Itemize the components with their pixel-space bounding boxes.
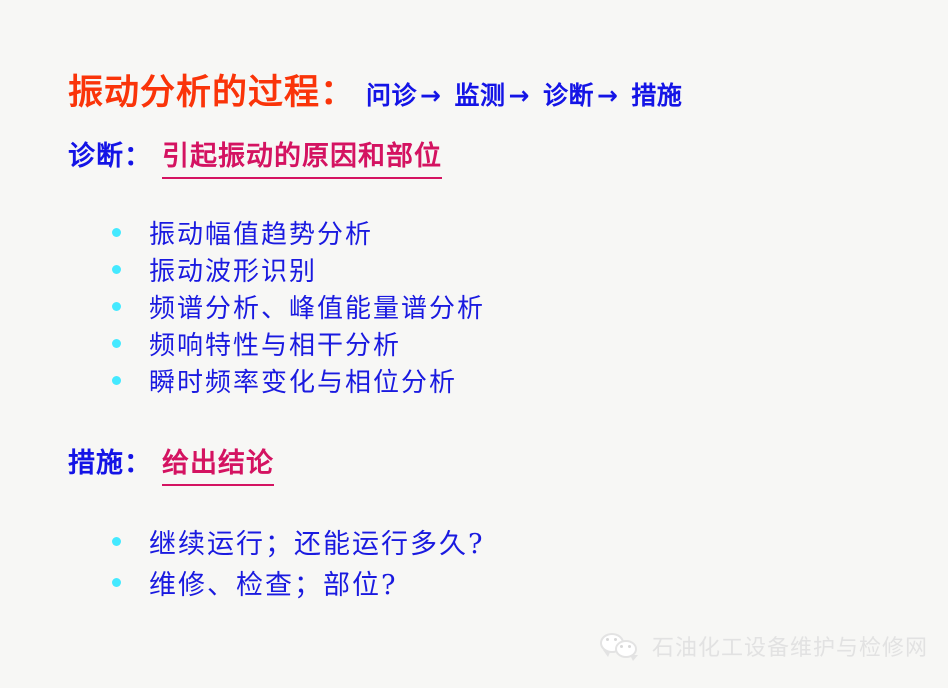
bullet-dot-icon bbox=[112, 537, 121, 546]
list-item-label: 振动幅值趋势分析 bbox=[149, 214, 373, 251]
arrow-right-icon-2: → bbox=[509, 81, 530, 110]
process-step-1: 问诊 bbox=[366, 81, 417, 110]
section-heading-diagnosis: 诊断： 引起振动的原因和部位 bbox=[68, 134, 442, 179]
wechat-icon bbox=[600, 631, 642, 661]
section-label-measures: 措施： bbox=[68, 441, 152, 480]
bullet-list-measures: 继续运行；还能运行多久? 维修、检查；部位? bbox=[112, 521, 484, 603]
section-value-diagnosis: 引起振动的原因和部位 bbox=[162, 134, 442, 179]
process-step-4: 措施 bbox=[631, 81, 682, 110]
bullet-dot-icon bbox=[112, 228, 121, 237]
list-item: 振动幅值趋势分析 bbox=[112, 214, 485, 251]
process-step-3: 诊断 bbox=[543, 81, 594, 110]
section-label-diagnosis: 诊断： bbox=[68, 134, 152, 173]
arrow-right-icon-3: → bbox=[597, 81, 618, 110]
list-item-label: 频谱分析、峰值能量谱分析 bbox=[149, 288, 485, 325]
list-item: 继续运行；还能运行多久? bbox=[112, 521, 484, 562]
list-item-label: 振动波形识别 bbox=[149, 251, 317, 288]
watermark-label: 石油化工设备维护与检修网 bbox=[652, 630, 928, 662]
list-item: 瞬时频率变化与相位分析 bbox=[112, 362, 485, 399]
page-title: 振动分析的过程： 问诊→监测→诊断→措施 bbox=[68, 64, 685, 115]
arrow-right-icon-1: → bbox=[420, 81, 441, 110]
wechat-icon-eye-front-2 bbox=[628, 645, 631, 648]
wechat-icon-bubble-front bbox=[615, 640, 637, 658]
list-item: 频谱分析、峰值能量谱分析 bbox=[112, 288, 485, 325]
section-heading-measures: 措施： 给出结论 bbox=[68, 441, 274, 486]
process-step-2: 监测 bbox=[454, 81, 505, 110]
list-item-label: 瞬时频率变化与相位分析 bbox=[149, 362, 457, 399]
bullet-dot-icon bbox=[112, 302, 121, 311]
wechat-icon-eye-back-1 bbox=[606, 638, 609, 641]
slide-canvas: 振动分析的过程： 问诊→监测→诊断→措施 诊断： 引起振动的原因和部位 振动幅值… bbox=[0, 0, 948, 688]
list-item-label: 频响特性与相干分析 bbox=[149, 325, 401, 362]
list-item: 维修、检查；部位? bbox=[112, 562, 484, 603]
section-value-measures: 给出结论 bbox=[162, 441, 274, 486]
bullet-list-diagnosis: 振动幅值趋势分析 振动波形识别 频谱分析、峰值能量谱分析 频响特性与相干分析 瞬… bbox=[112, 214, 485, 399]
page-title-main: 振动分析的过程： bbox=[68, 64, 356, 115]
list-item: 振动波形识别 bbox=[112, 251, 485, 288]
list-item: 频响特性与相干分析 bbox=[112, 325, 485, 362]
list-item-label: 维修、检查；部位? bbox=[149, 563, 397, 602]
watermark: 石油化工设备维护与检修网 bbox=[600, 630, 928, 662]
bullet-dot-icon bbox=[112, 376, 121, 385]
bullet-dot-icon bbox=[112, 265, 121, 274]
process-steps: 问诊→监测→诊断→措施 bbox=[366, 76, 685, 112]
wechat-icon-eye-front-1 bbox=[620, 645, 623, 648]
bullet-dot-icon bbox=[112, 578, 121, 587]
list-item-label: 继续运行；还能运行多久? bbox=[149, 522, 484, 561]
bullet-dot-icon bbox=[112, 339, 121, 348]
wechat-icon-eye-back-2 bbox=[614, 638, 617, 641]
